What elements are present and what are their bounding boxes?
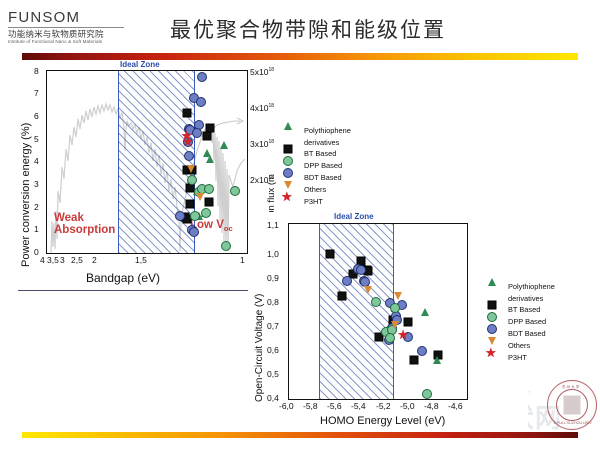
legend-item-polythiophene: Polythiophene xyxy=(288,126,398,137)
legend2-item-others: Others xyxy=(492,341,600,352)
chart2-xlabel: HOMO Energy Level (eV) xyxy=(320,415,445,427)
triangle-up-icon xyxy=(288,126,302,137)
legend-item-bdt-based: BDT Based xyxy=(288,173,398,184)
data-point-triangle-up xyxy=(203,149,211,157)
legend2-item-dpp-based: DPP Based xyxy=(492,317,600,328)
university-seal: 苏 州 大 学 A FULL SUZHOU UNIV xyxy=(547,380,597,430)
data-point-circle-bdt xyxy=(417,346,427,356)
chart1-ideal-zone-label: Ideal Zone xyxy=(120,60,160,69)
legend-item-bt-based: BT Based xyxy=(288,149,398,160)
logo-wordmark: FUNSOM xyxy=(8,10,148,26)
legend-item-p3ht: ★ P3HT xyxy=(288,197,398,208)
data-point-square xyxy=(403,318,412,327)
data-point-triangle-down xyxy=(364,286,372,294)
seal-core xyxy=(564,396,581,415)
data-point-circle-bdt xyxy=(196,97,206,107)
chart2-legend: Polythiophene derivatives BT Based DPP B… xyxy=(492,282,600,365)
chart2-ylabel: Open-Circuit Voltage (V) xyxy=(254,294,265,402)
data-point-circle-bdt xyxy=(197,72,207,82)
page-title: 最优聚合物带隙和能级位置 xyxy=(170,14,590,44)
chart1-data-points: ★★ xyxy=(46,70,246,252)
data-point-square xyxy=(326,249,335,258)
triangle-up-icon xyxy=(492,282,506,293)
chart1-legend: Polythiophene derivatives BT Based DPP B… xyxy=(288,126,398,209)
data-point-square xyxy=(409,356,418,365)
data-point-circle-dpp xyxy=(390,303,400,313)
legend2-item-polythiophene: Polythiophene xyxy=(492,282,600,293)
legend2-item-bdt-based: BDT Based xyxy=(492,329,600,340)
chart1-xlabel: Bandgap (eV) xyxy=(86,271,160,285)
seal-top-text: 苏 州 大 学 xyxy=(562,385,579,390)
legend2-item-polythiophene-line2: derivatives xyxy=(492,294,600,303)
logo-chinese-name: 功能纳米与软物质研究院 xyxy=(8,29,148,39)
panel-divider-horizontal xyxy=(18,290,278,291)
seal-bottom-text: A FULL SUZHOU UNIV xyxy=(554,421,592,425)
logo-divider xyxy=(8,27,124,28)
data-point-circle-dpp xyxy=(221,241,231,251)
data-point-triangle-down xyxy=(196,193,204,201)
data-point-circle-bdt xyxy=(189,227,199,237)
data-point-circle-dpp xyxy=(422,389,432,399)
data-point-triangle-down xyxy=(394,292,402,300)
header-gradient-bar xyxy=(22,53,578,60)
chart-voc-vs-homo: Open-Circuit Voltage (V) HOMO Energy Lev… xyxy=(248,212,528,430)
chart1-ylabel: Power conversion energy (%) xyxy=(20,123,32,267)
data-point-circle-bdt xyxy=(342,276,352,286)
data-point-triangle-up xyxy=(421,308,429,316)
data-point-circle-dpp xyxy=(204,184,214,194)
legend2-item-bt-based: BT Based xyxy=(492,305,600,316)
funsom-logo: FUNSOM 功能纳米与软物质研究院 Institute of Function… xyxy=(8,10,148,45)
chart2-data-points: ★ xyxy=(288,223,466,398)
data-point-triangle-up xyxy=(220,141,228,149)
data-point-star: ★ xyxy=(397,331,409,339)
chart-pce-vs-bandgap: Power conversion energy (%) AM 1.5 photo… xyxy=(10,62,280,290)
data-point-square xyxy=(338,292,347,301)
slide-canvas: FUNSOM 功能纳米与软物质研究院 Institute of Function… xyxy=(0,0,600,450)
data-point-circle-dpp xyxy=(190,211,200,221)
data-point-circle-bdt xyxy=(184,151,194,161)
data-point-square xyxy=(203,131,212,140)
legend-item-polythiophene-line2: derivatives xyxy=(288,138,398,147)
data-point-circle-dpp xyxy=(385,333,395,343)
legend-item-dpp-based: DPP Based xyxy=(288,161,398,172)
data-point-circle-dpp xyxy=(201,208,211,218)
data-point-circle-bdt xyxy=(356,265,366,275)
data-point-star: ★ xyxy=(182,138,194,146)
chart2-ideal-zone-label: Ideal Zone xyxy=(334,212,374,221)
footer-gradient-bar xyxy=(22,432,578,438)
data-point-square xyxy=(185,200,194,209)
data-point-triangle-down xyxy=(187,165,195,173)
data-point-circle-dpp xyxy=(187,175,197,185)
data-point-square xyxy=(183,109,192,118)
legend-item-others: Others xyxy=(288,185,398,196)
logo-english-name: Institute of Functional Nano & Soft Mate… xyxy=(8,39,148,45)
data-point-square xyxy=(204,197,213,206)
star-icon: ★ xyxy=(288,197,302,208)
data-point-circle-dpp xyxy=(230,186,240,196)
data-point-circle-dpp xyxy=(371,297,381,307)
legend2-item-p3ht: ★ P3HT xyxy=(492,353,600,364)
star-icon: ★ xyxy=(492,353,506,364)
data-point-circle-bdt xyxy=(175,211,185,221)
data-point-triangle-up xyxy=(433,356,441,364)
